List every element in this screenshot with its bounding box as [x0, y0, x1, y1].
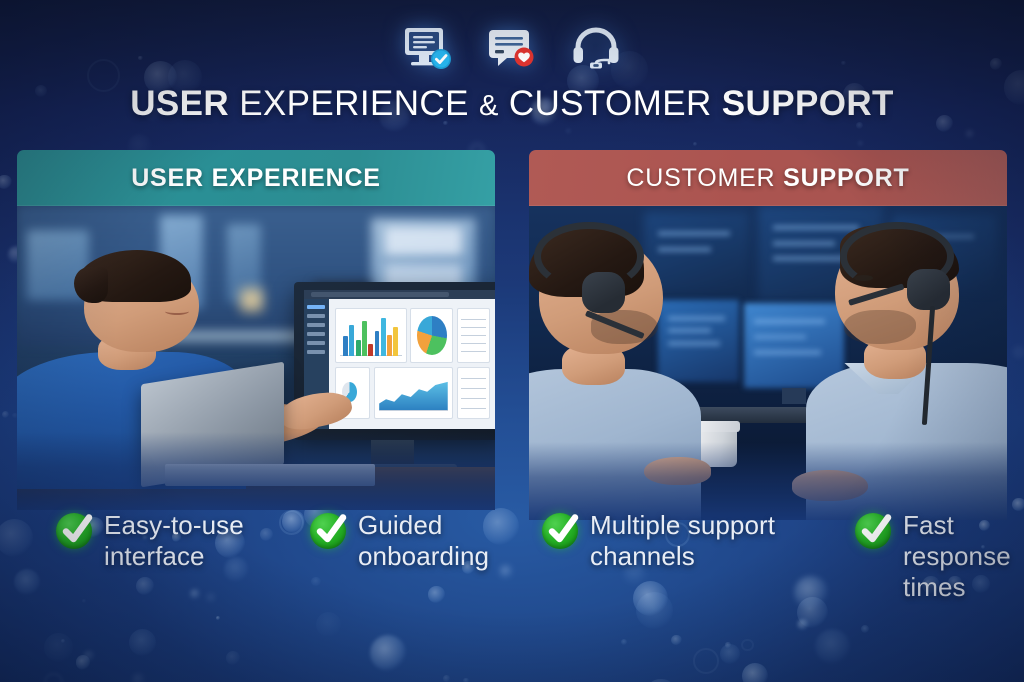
check-circle-icon [56, 513, 92, 549]
bokeh-particle [129, 629, 156, 656]
bokeh-particle [83, 650, 95, 662]
monitor-verified-icon [399, 22, 457, 74]
dashboard-bar-chart [335, 308, 407, 363]
title-word-experience: EXPERIENCE [239, 84, 469, 123]
bokeh-particle [633, 581, 668, 616]
bokeh-particle [260, 528, 273, 541]
bokeh-particle [61, 639, 65, 643]
bokeh-particle [500, 565, 513, 578]
agent-right-hand [792, 470, 868, 501]
bokeh-particle [1012, 498, 1024, 512]
feature-fast-response-times: Fast response times [855, 510, 1005, 603]
panel-customer-support: CUSTOMER SUPPORT [529, 150, 1007, 510]
feature-easy-to-use-interface: Easy-to-use interface [56, 510, 256, 572]
bokeh-particle [693, 142, 697, 146]
bokeh-particle [279, 510, 304, 535]
chat-bubble-heart-icon [483, 22, 541, 74]
bokeh-particle [190, 589, 201, 600]
bokeh-particle [720, 644, 740, 664]
bokeh-particle [861, 625, 869, 633]
feature-line-3: times [903, 572, 1011, 603]
bokeh-particle [136, 577, 154, 595]
agent-right-earcup [907, 269, 950, 310]
panel-header-word-user: USER [131, 164, 204, 193]
feature-label: Fast response times [903, 510, 1011, 603]
feature-line-1: Fast [903, 510, 1011, 541]
title-word-support: SUPPORT [722, 84, 894, 123]
bokeh-particle [645, 679, 676, 682]
bokeh-particle [693, 648, 719, 674]
agent-left-earcup [582, 272, 625, 313]
feature-line-2: response [903, 541, 1011, 572]
bokeh-particle [742, 663, 768, 682]
feature-line-2: onboarding [358, 541, 489, 572]
panel-header-user-experience: USER EXPERIENCE [17, 150, 495, 206]
panel-header-word-customer: CUSTOMER [626, 164, 775, 193]
bokeh-particle [858, 141, 863, 146]
headset-icon [567, 22, 625, 74]
bokeh-particle [370, 635, 406, 671]
bokeh-particle [966, 130, 974, 138]
bokeh-particle [794, 576, 828, 610]
bokeh-particle [282, 510, 305, 533]
feature-guided-onboarding: Guided onboarding [310, 510, 500, 572]
bokeh-particle [0, 175, 12, 189]
bokeh-particle [1014, 347, 1024, 358]
photo-customer-support [529, 206, 1007, 520]
panel-header-word-support: SUPPORT [783, 164, 909, 193]
bokeh-particle [443, 675, 450, 682]
check-circle-icon [542, 513, 578, 549]
bokeh-particle [725, 642, 730, 647]
feature-line-2: channels [590, 541, 775, 572]
bokeh-particle [428, 586, 444, 602]
panel-user-experience: USER EXPERIENCE [17, 150, 495, 510]
dashboard-side-list [457, 367, 490, 419]
photo-user-experience [17, 206, 495, 510]
check-circle-icon [855, 513, 891, 549]
bokeh-particle [671, 635, 681, 645]
feature-line-1: Multiple support [590, 510, 775, 541]
bokeh-particle [208, 595, 213, 600]
title-word-user: USER [130, 84, 229, 123]
page-title: USER EXPERIENCE & CUSTOMER SUPPORT [0, 84, 1024, 126]
bokeh-particle [2, 411, 9, 418]
agent-left-hand [644, 457, 711, 485]
bokeh-particle [463, 678, 469, 682]
feature-label: Easy-to-use interface [104, 510, 244, 572]
check-circle-icon [310, 513, 346, 549]
feature-label: Guided onboarding [358, 510, 489, 572]
title-word-customer: CUSTOMER [509, 84, 712, 123]
bokeh-particle [82, 599, 86, 603]
feature-line-1: Guided [358, 510, 489, 541]
feature-multiple-support-channels: Multiple support channels [542, 510, 812, 572]
dashboard-kpi-list [457, 308, 490, 363]
bokeh-particle [566, 129, 571, 134]
feature-line-2: interface [104, 541, 244, 572]
infographic-root: USER EXPERIENCE & CUSTOMER SUPPORT USER … [0, 0, 1024, 682]
bokeh-particle [76, 655, 91, 670]
dashboard-pie-chart [410, 308, 453, 363]
bokeh-particle [14, 569, 40, 595]
bokeh-particle [815, 629, 850, 664]
title-ampersand: & [479, 90, 499, 122]
bokeh-particle [44, 673, 63, 682]
bokeh-particle [621, 639, 628, 646]
panel-header-customer-support: CUSTOMER SUPPORT [529, 150, 1007, 206]
dashboard-area-chart [374, 367, 454, 419]
bokeh-particle [132, 673, 145, 682]
coffee-cup-lid [697, 421, 740, 432]
bokeh-particle [636, 592, 673, 629]
feature-label: Multiple support channels [590, 510, 775, 572]
laptop-keyboard [165, 464, 375, 485]
bokeh-particle [44, 633, 73, 662]
bokeh-particle [0, 519, 33, 556]
panel-header-word-experience: EXPERIENCE [212, 164, 381, 193]
bokeh-particle [741, 639, 754, 652]
bokeh-particle [311, 577, 320, 586]
bokeh-particle [797, 619, 809, 631]
bokeh-particle [226, 651, 240, 665]
header-icon-row [0, 18, 1024, 78]
bokeh-particle [527, 661, 532, 666]
bokeh-particle [797, 597, 828, 628]
agent-left-torso [529, 369, 701, 520]
feature-line-1: Easy-to-use [104, 510, 244, 541]
bokeh-particle [316, 612, 341, 637]
bokeh-particle [216, 616, 220, 620]
